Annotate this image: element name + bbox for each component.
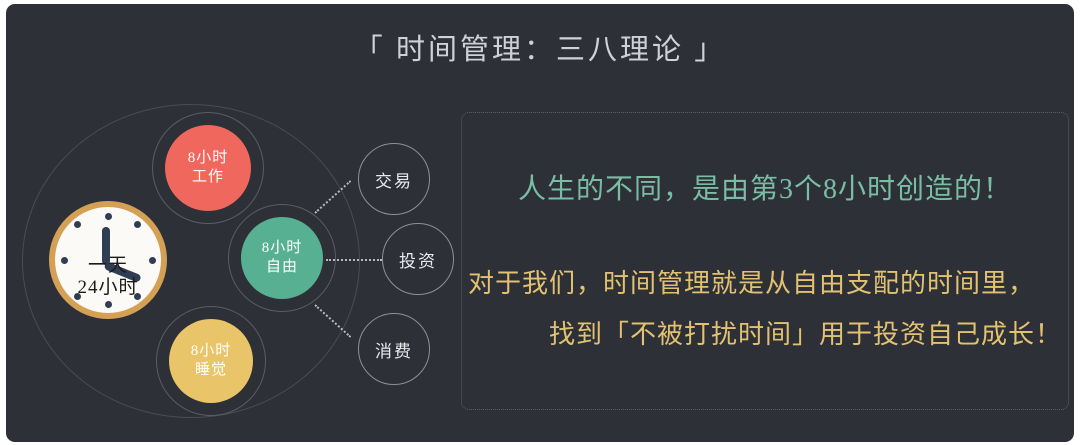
connector-to-invest: [326, 259, 382, 261]
bubble-work[interactable]: 8小时 工作: [165, 125, 251, 211]
bubble-free-line1: 8小时: [262, 239, 303, 258]
node-consume[interactable]: 消费: [358, 313, 430, 385]
bubble-work-line2: 工作: [192, 168, 224, 187]
quote-headline: 人生的不同，是由第3个8小时创造的！: [461, 167, 1069, 207]
node-invest-label: 投资: [399, 247, 437, 272]
bubble-free-line2: 自由: [266, 258, 298, 277]
bubble-sleep[interactable]: 8小时 睡觉: [169, 319, 253, 403]
node-consume-label: 消费: [375, 337, 413, 362]
quote-body-line-2: 找到「不被打扰时间」用于投资自己成长！: [468, 314, 1062, 351]
infographic-canvas: 「 时间管理：三八理论 」 一天 24小时: [0, 0, 1080, 445]
clock-tick-1: [134, 221, 141, 228]
clock-tick-11: [74, 221, 81, 228]
bubble-free[interactable]: 8小时 自由: [241, 217, 323, 299]
quote-body-line-1: 对于我们，时间管理就是从自由支配的时间里，: [468, 263, 1062, 300]
node-trade[interactable]: 交易: [358, 143, 430, 215]
clock-tick-6: [105, 301, 112, 308]
bubble-work-line1: 8小时: [188, 149, 229, 168]
bubble-sleep-line2: 睡觉: [195, 361, 227, 380]
node-invest[interactable]: 投资: [382, 223, 454, 295]
clock-label-line2: 24小时: [49, 277, 167, 299]
clock-label-line1: 一天: [49, 255, 167, 277]
clock-label: 一天 24小时: [49, 255, 167, 300]
node-trade-label: 交易: [375, 167, 413, 192]
quote-panel: [461, 112, 1069, 410]
dark-card: 「 时间管理：三八理论 」 一天 24小时: [6, 4, 1074, 442]
time-allocation-diagram: 一天 24小时 8小时 工作 8小时 自由 8小时 睡觉: [6, 4, 466, 442]
clock-tick-12: [105, 213, 112, 220]
bubble-sleep-line1: 8小时: [191, 342, 232, 361]
